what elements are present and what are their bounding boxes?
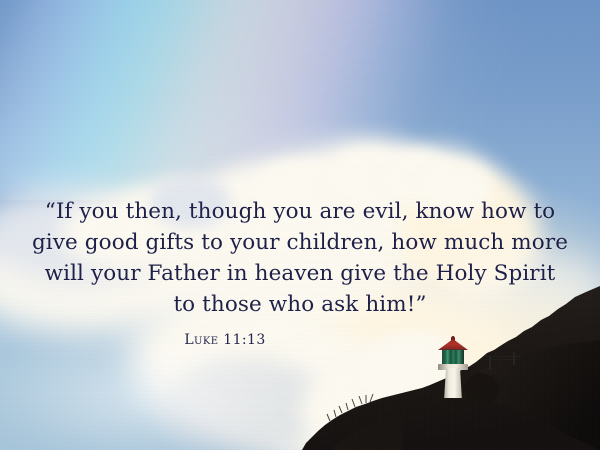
quote-line-2: give good gifts to your children, how mu… xyxy=(0,227,600,258)
quote-line-4: to those who ask him!” xyxy=(0,289,600,320)
utility-wire xyxy=(485,356,521,357)
quote-line-1: “If you then, though you are evil, know … xyxy=(0,196,600,227)
quote-line-3: will your Father in heaven give the Holy… xyxy=(0,258,600,289)
verse-image-scene: “If you then, though you are evil, know … xyxy=(0,0,600,450)
verse-quote: “If you then, though you are evil, know … xyxy=(0,196,600,320)
verse-attribution: Luke 11:13 xyxy=(0,332,600,348)
utility-crossbar xyxy=(486,359,518,360)
lighthouse-tower xyxy=(442,368,464,398)
